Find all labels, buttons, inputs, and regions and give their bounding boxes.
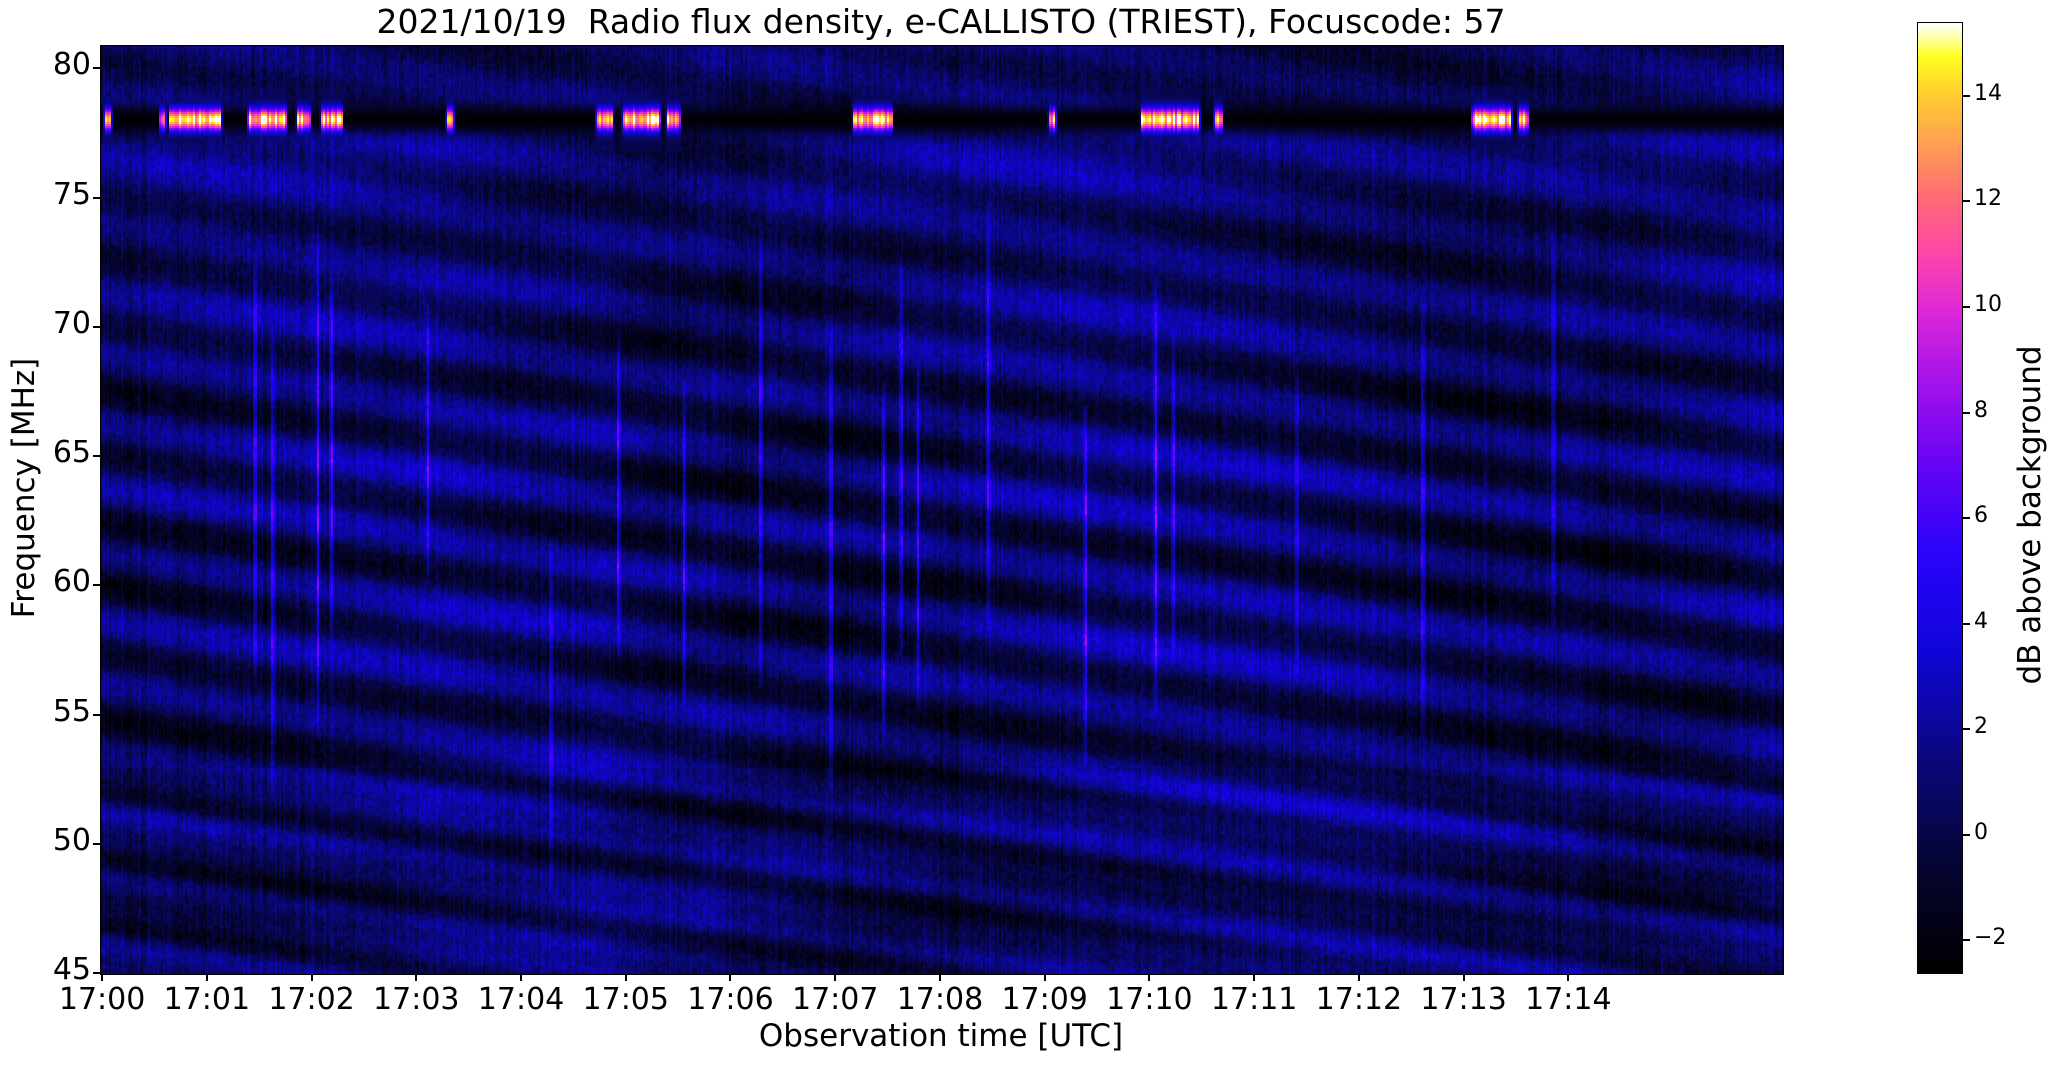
- y-tick-label: 75: [53, 177, 91, 212]
- x-tick-mark: [625, 974, 627, 981]
- colorbar-tick-mark: [1962, 200, 1970, 202]
- x-tick-mark: [729, 974, 731, 981]
- colorbar-tick-label: −2: [1974, 925, 2006, 950]
- y-tick-mark: [93, 714, 100, 716]
- x-tick-label: 17:01: [164, 982, 250, 1017]
- x-tick-mark: [1358, 974, 1360, 981]
- y-tick-label: 65: [53, 435, 91, 470]
- y-tick-label: 60: [53, 564, 91, 599]
- colorbar-tick-mark: [1962, 623, 1970, 625]
- colorbar-tick-label: 4: [1974, 609, 1988, 634]
- x-tick-label: 17:00: [59, 982, 145, 1017]
- x-tick-label: 17:09: [1001, 982, 1087, 1017]
- colorbar-tick-label: 10: [1974, 292, 2002, 317]
- x-tick-mark: [415, 974, 417, 981]
- x-tick-mark: [939, 974, 941, 981]
- x-tick-mark: [311, 974, 313, 981]
- y-axis-label: Frequency [MHz]: [6, 24, 42, 952]
- x-tick-mark: [520, 974, 522, 981]
- x-tick-label: 17:11: [1211, 982, 1297, 1017]
- x-tick-label: 17:05: [583, 982, 669, 1017]
- y-tick-label: 80: [53, 47, 91, 82]
- colorbar-tick-label: 0: [1974, 820, 1988, 845]
- y-tick-mark: [93, 972, 100, 974]
- x-tick-label: 17:12: [1316, 982, 1402, 1017]
- y-tick-mark: [93, 67, 100, 69]
- colorbar-tick-label: 6: [1974, 503, 1988, 528]
- x-tick-label: 17:08: [897, 982, 983, 1017]
- x-tick-label: 17:02: [268, 982, 354, 1017]
- x-tick-mark: [206, 974, 208, 981]
- x-tick-mark: [834, 974, 836, 981]
- colorbar-tick-mark: [1962, 939, 1970, 941]
- colorbar-tick-mark: [1962, 306, 1970, 308]
- x-tick-label: 17:04: [478, 982, 564, 1017]
- x-tick-mark: [1253, 974, 1255, 981]
- x-tick-mark: [1044, 974, 1046, 981]
- y-tick-label: 50: [53, 823, 91, 858]
- spectrogram-axes[interactable]: [100, 45, 1784, 975]
- x-tick-label: 17:13: [1420, 982, 1506, 1017]
- x-tick-label: 17:10: [1106, 982, 1192, 1017]
- colorbar-tick-label: 8: [1974, 398, 1988, 423]
- y-tick-mark: [93, 197, 100, 199]
- colorbar-tick-mark: [1962, 517, 1970, 519]
- x-tick-label: 17:06: [687, 982, 773, 1017]
- x-tick-mark: [101, 974, 103, 981]
- y-tick-label: 55: [53, 694, 91, 729]
- y-tick-mark: [93, 584, 100, 586]
- page-title: 2021/10/19 Radio flux density, e-CALLIST…: [100, 2, 1782, 41]
- colorbar-tick-mark: [1962, 412, 1970, 414]
- colorbar-tick-label: 14: [1974, 81, 2002, 106]
- colorbar-tick-mark: [1962, 95, 1970, 97]
- y-tick-mark: [93, 843, 100, 845]
- x-tick-mark: [1148, 974, 1150, 981]
- x-tick-label: 17:03: [373, 982, 459, 1017]
- colorbar-tick-label: 2: [1974, 714, 1988, 739]
- y-tick-label: 70: [53, 306, 91, 341]
- colorbar-gradient: [1918, 23, 1962, 973]
- x-tick-label: 17:14: [1525, 982, 1611, 1017]
- y-tick-mark: [93, 455, 100, 457]
- x-axis-label: Observation time [UTC]: [100, 1018, 1782, 1054]
- x-tick-label: 17:07: [792, 982, 878, 1017]
- figure-canvas: 2021/10/19 Radio flux density, e-CALLIST…: [0, 0, 2047, 1067]
- x-tick-mark: [1463, 974, 1465, 981]
- colorbar-label: dB above background: [2012, 205, 2047, 825]
- colorbar-tick-label: 12: [1974, 186, 2002, 211]
- colorbar[interactable]: [1917, 22, 1963, 974]
- colorbar-tick-mark: [1962, 728, 1970, 730]
- colorbar-tick-mark: [1962, 834, 1970, 836]
- y-tick-mark: [93, 326, 100, 328]
- spectrogram-image: [101, 46, 1783, 974]
- x-tick-mark: [1567, 974, 1569, 981]
